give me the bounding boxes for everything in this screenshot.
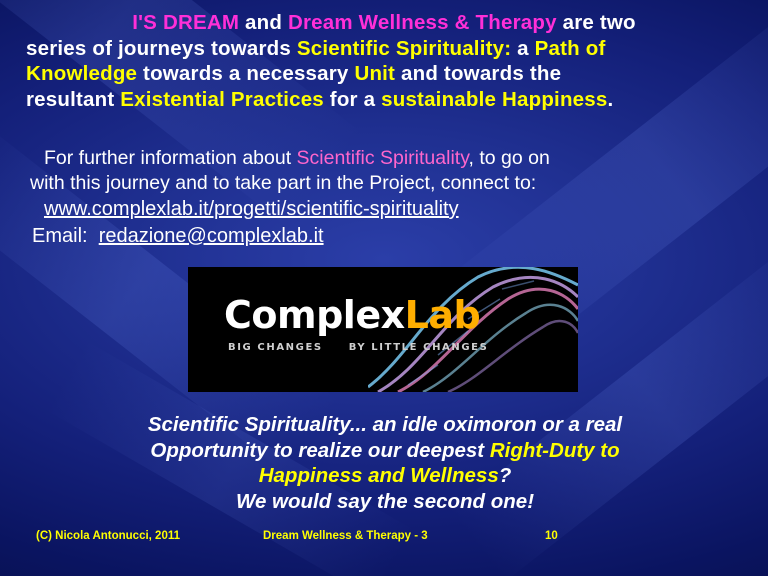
project-url-link[interactable]: www.complexlab.it/progetti/scientific-sp… [44, 198, 459, 220]
intro-paragraph: I'S DREAM and Dream Wellness & Therapy a… [26, 10, 742, 112]
info-line-1: For further information about Scientific… [30, 146, 746, 171]
intro-line-4: resultant Existential Practices for a su… [26, 87, 742, 113]
presentation-slide: I'S DREAM and Dream Wellness & Therapy a… [0, 0, 768, 576]
is-dream-text: I'S DREAM [132, 11, 239, 34]
slide-footer: (C) Nicola Antonucci, 2011 Dream Wellnes… [0, 528, 768, 564]
info-paragraph: For further information about Scientific… [30, 146, 746, 250]
email-line: Email: redazione@complexlab.it [30, 223, 746, 250]
scientific-spirituality-mention: Scientific Spirituality [297, 147, 469, 169]
intro-line-3: Knowledge towards a necessary Unit and t… [26, 61, 742, 87]
complexlab-tagline: BIG CHANGESBY LITTLE CHANGES [228, 342, 488, 353]
complexlab-logo-image: ComplexLab BIG CHANGESBY LITTLE CHANGES [188, 267, 578, 392]
intro-line-1: I'S DREAM and Dream Wellness & Therapy a… [26, 10, 742, 36]
email-link[interactable]: redazione@complexlab.it [99, 225, 324, 247]
footer-title: Dream Wellness & Therapy - 3 [263, 530, 428, 542]
footer-page-number: 10 [545, 530, 558, 542]
closing-line-2: Opportunity to realize our deepest Right… [40, 438, 730, 464]
footer-copyright: (C) Nicola Antonucci, 2011 [36, 530, 180, 542]
dream-wellness-text: Dream Wellness & Therapy [288, 11, 557, 34]
email-label: Email: [32, 225, 88, 247]
project-url-line: www.complexlab.it/progetti/scientific-sp… [30, 196, 746, 223]
complexlab-wordmark: ComplexLab [224, 293, 480, 337]
closing-line-3: Happiness and Wellness? [40, 463, 730, 489]
info-line-2: with this journey and to take part in th… [30, 171, 746, 196]
intro-line-2: series of journeys towards Scientific Sp… [26, 36, 742, 62]
closing-line-4: We would say the second one! [40, 489, 730, 515]
closing-line-1: Scientific Spirituality... an idle oximo… [40, 412, 730, 438]
scientific-spirituality-text: Scientific Spirituality: [297, 37, 511, 60]
closing-paragraph: Scientific Spirituality... an idle oximo… [40, 412, 730, 514]
